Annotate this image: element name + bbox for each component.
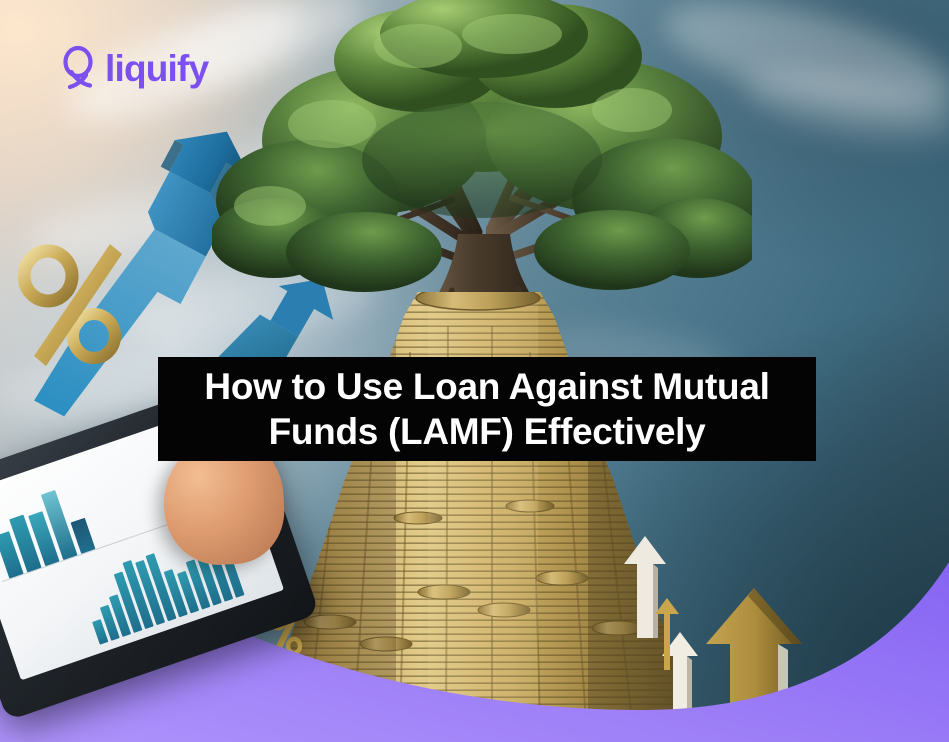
blog-hero-banner: How to Use Loan Against Mutual Funds (LA…	[0, 0, 949, 742]
brand-name: liquify	[105, 50, 208, 87]
percent-symbol-icon	[18, 238, 128, 368]
title-line-1: How to Use Loan Against Mutual	[204, 364, 769, 409]
title-line-2: Funds (LAMF) Effectively	[269, 409, 706, 454]
liquify-q-mark-icon	[62, 45, 96, 91]
page-title: How to Use Loan Against Mutual Funds (LA…	[158, 357, 816, 461]
brand-logo[interactable]: liquify	[62, 45, 208, 91]
top-bar-chart	[0, 481, 95, 579]
